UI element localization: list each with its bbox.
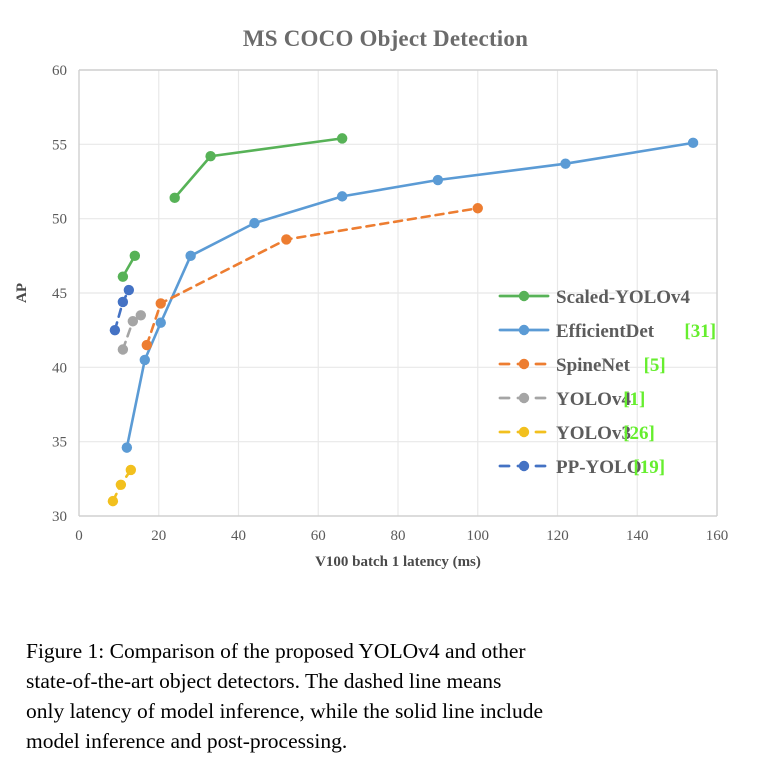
y-tick-label: 40 xyxy=(52,360,67,376)
legend-item-pp-yolo[interactable]: PP-YOLO[19] xyxy=(500,457,665,478)
figure-1-container: MS COCO Object Detection 30354045505560 … xyxy=(0,0,771,781)
x-axis-title: V100 batch 1 latency (ms) xyxy=(315,554,481,570)
legend-label: YOLOv4 xyxy=(556,389,631,410)
legend-item-efficientdet[interactable]: EfficientDet[31] xyxy=(500,321,716,342)
y-tick-label: 35 xyxy=(52,435,67,451)
x-tick-label: 0 xyxy=(75,528,83,544)
data-point xyxy=(249,218,259,228)
legend-label: Scaled-YOLOv4 xyxy=(556,287,691,308)
data-point xyxy=(108,496,118,506)
legend-marker-icon xyxy=(519,291,529,301)
y-tick-label: 60 xyxy=(52,63,67,79)
x-tick-labels-group: 020406080100120140160 xyxy=(75,528,728,544)
data-point xyxy=(205,151,215,161)
x-tick-label: 20 xyxy=(151,528,166,544)
legend-item-yolov3[interactable]: YOLOv3[26] xyxy=(500,423,655,444)
legend-marker-icon xyxy=(519,393,529,403)
series-line xyxy=(175,138,342,197)
legend-label: YOLOv3 xyxy=(556,423,631,444)
data-point xyxy=(116,480,126,490)
data-point xyxy=(124,285,134,295)
data-point xyxy=(560,158,570,168)
caption-line: only latency of model inference, while t… xyxy=(26,696,742,726)
caption-line: Figure 1: Comparison of the proposed YOL… xyxy=(26,636,742,666)
data-point xyxy=(118,271,128,281)
series-yolov4 xyxy=(118,310,146,355)
data-point xyxy=(122,442,132,452)
y-axis-title: AP xyxy=(14,283,30,303)
legend-citation[interactable]: [19] xyxy=(633,457,665,478)
legend-citation[interactable]: [31] xyxy=(684,321,716,342)
series-spinenet xyxy=(142,203,483,350)
data-point xyxy=(142,340,152,350)
data-point xyxy=(126,465,136,475)
axis-titles-group: V100 batch 1 latency (ms)AP xyxy=(14,283,481,570)
data-point xyxy=(110,325,120,335)
data-point xyxy=(118,344,128,354)
data-point xyxy=(337,191,347,201)
y-tick-label: 50 xyxy=(52,212,67,228)
legend-item-scaled-yolov4[interactable]: Scaled-YOLOv4 xyxy=(500,287,691,308)
data-point xyxy=(337,133,347,143)
legend-label: EfficientDet xyxy=(556,321,655,342)
y-tick-label: 55 xyxy=(52,137,67,153)
x-tick-label: 100 xyxy=(467,528,490,544)
data-series-group xyxy=(108,133,699,506)
data-point xyxy=(688,138,698,148)
data-point xyxy=(433,175,443,185)
data-point xyxy=(156,318,166,328)
data-point xyxy=(185,251,195,261)
x-tick-label: 160 xyxy=(706,528,729,544)
x-tick-label: 60 xyxy=(311,528,326,544)
legend-label: PP-YOLO xyxy=(556,457,642,478)
legend-citation[interactable]: [1] xyxy=(623,389,645,410)
legend-citation[interactable]: [5] xyxy=(644,355,666,376)
y-tick-labels-group: 30354045505560 xyxy=(52,63,67,525)
data-point xyxy=(473,203,483,213)
data-point xyxy=(118,297,128,307)
x-tick-label: 120 xyxy=(546,528,569,544)
legend-item-spinenet[interactable]: SpineNet[5] xyxy=(500,355,666,376)
figure-caption: Figure 1: Comparison of the proposed YOL… xyxy=(26,636,742,756)
data-point xyxy=(156,298,166,308)
series-line xyxy=(147,208,478,345)
series-line xyxy=(115,290,129,330)
chart-block: MS COCO Object Detection 30354045505560 … xyxy=(0,0,771,600)
legend-marker-icon xyxy=(519,359,529,369)
series-yolov3 xyxy=(108,465,136,507)
x-tick-label: 80 xyxy=(391,528,406,544)
scatter-plot-svg: 30354045505560 020406080100120140160 V10… xyxy=(0,0,771,600)
y-tick-label: 45 xyxy=(52,286,67,302)
caption-line: model inference and post-processing. xyxy=(26,726,742,756)
series-scaled-yolov4 xyxy=(118,133,348,282)
y-tick-label: 30 xyxy=(52,509,67,525)
legend-marker-icon xyxy=(519,427,529,437)
x-tick-label: 40 xyxy=(231,528,246,544)
legend-label: SpineNet xyxy=(556,355,631,376)
x-tick-label: 140 xyxy=(626,528,649,544)
legend-item-yolov4[interactable]: YOLOv4[1] xyxy=(500,389,645,410)
data-point xyxy=(170,193,180,203)
data-point xyxy=(130,251,140,261)
legend-marker-icon xyxy=(519,325,529,335)
data-point xyxy=(281,234,291,244)
legend-marker-icon xyxy=(519,461,529,471)
legend-group[interactable]: Scaled-YOLOv4EfficientDet[31]SpineNet[5]… xyxy=(500,287,716,478)
data-point xyxy=(140,355,150,365)
data-point xyxy=(136,310,146,320)
caption-line: state-of-the-art object detectors. The d… xyxy=(26,666,742,696)
legend-citation[interactable]: [26] xyxy=(623,423,655,444)
